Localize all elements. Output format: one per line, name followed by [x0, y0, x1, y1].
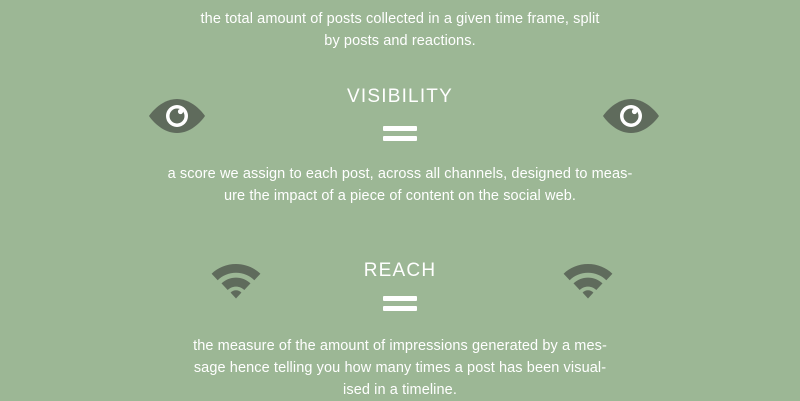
section-title-reach: REACH: [300, 260, 500, 282]
infographic-page: the total amount of posts collected in a…: [0, 0, 800, 400]
wifi-icon: [210, 258, 262, 300]
wifi-icon: [562, 258, 614, 300]
eye-icon: [600, 96, 662, 136]
top-paragraph: the total amount of posts collected in a…: [130, 8, 670, 52]
equals-sign-reach: [300, 296, 500, 316]
section-title-visibility: VISIBILITY: [300, 86, 500, 108]
reach-paragraph: the measure of the amount of impressions…: [130, 335, 670, 401]
equals-sign-visibility: [300, 126, 500, 146]
eye-icon: [146, 96, 208, 136]
visibility-paragraph: a score we assign to each post, across a…: [120, 163, 680, 207]
